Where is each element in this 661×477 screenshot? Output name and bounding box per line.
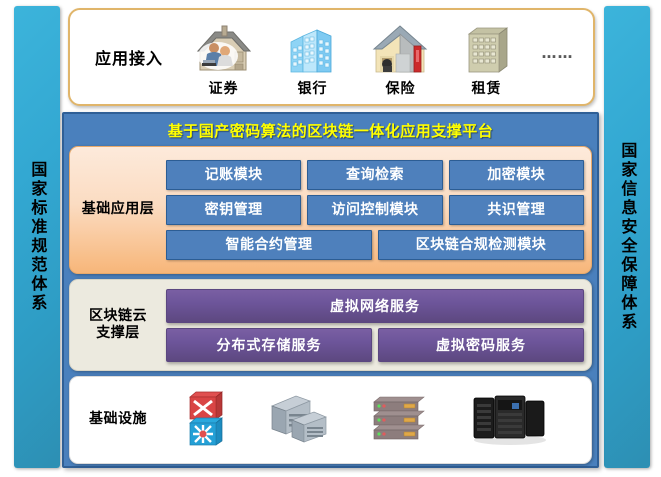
access-ellipsis: …… (542, 44, 574, 72)
cloud-service-row-1: 虚拟网络服务 (166, 289, 584, 323)
app-module-row-2: 密钥管理 访问控制模块 共识管理 (166, 195, 584, 225)
infrastructure-layer-label: 基础设施 (70, 411, 166, 429)
service-virtual-cryptography[interactable]: 虚拟密码服务 (378, 328, 584, 362)
access-item-bank[interactable]: 银行 (283, 14, 343, 102)
infrastructure-layer: 基础设施 (69, 376, 592, 464)
blockchain-cloud-support-services: 虚拟网络服务 分布式存储服务 虚拟密码服务 (166, 284, 591, 367)
cloud-label-line-1: 区块链云 (70, 308, 166, 326)
sidebar-left-label: 国家标准规范体系 (29, 161, 46, 313)
cloud-label-line-2: 支撑层 (70, 325, 166, 343)
blockchain-cloud-support-layer-label: 区块链云 支撑层 (70, 308, 166, 343)
sidebar-national-standards: 国家标准规范体系 (14, 6, 60, 468)
basic-application-layer-label: 基础应用层 (70, 201, 166, 219)
bank-building-icon (283, 18, 343, 76)
access-caption-leasing: 租赁 (472, 78, 502, 98)
access-item-insurance[interactable]: 保险 (370, 14, 432, 102)
leasing-building-icon (459, 18, 515, 76)
module-smart-contract-management[interactable]: 智能合约管理 (166, 230, 372, 260)
app-module-row-3: 智能合约管理 区块链合规检测模块 (166, 230, 584, 260)
module-key-management[interactable]: 密钥管理 (166, 195, 301, 225)
basic-application-layer: 基础应用层 记账模块 查询检索 加密模块 密钥管理 访问控制模块 共识管理 智能… (69, 146, 592, 274)
module-blockchain-compliance-detection[interactable]: 区块链合规检测模块 (378, 230, 584, 260)
access-caption-bank: 银行 (298, 78, 328, 98)
platform-frame: 基于国产密码算法的区块链一体化应用支撑平台 基础应用层 记账模块 查询检索 加密… (62, 112, 599, 468)
blockchain-cloud-support-layer: 区块链云 支撑层 虚拟网络服务 分布式存储服务 虚拟密码服务 (69, 279, 592, 371)
application-access-label: 应用接入 (80, 45, 178, 69)
insurance-house-icon (370, 18, 432, 76)
infrastructure-icon-row (166, 387, 584, 453)
rack-servers-icon (368, 390, 428, 450)
application-access-panel: 应用接入 (68, 8, 595, 106)
access-caption-insurance: 保险 (386, 78, 416, 98)
platform-title: 基于国产密码算法的区块链一体化应用支撑平台 (69, 119, 592, 141)
securities-house-icon (192, 18, 256, 76)
server-cabinet-icon (468, 390, 548, 450)
app-module-row-1: 记账模块 查询检索 加密模块 (166, 160, 584, 190)
cloud-service-row-2: 分布式存储服务 虚拟密码服务 (166, 328, 584, 362)
service-distributed-storage[interactable]: 分布式存储服务 (166, 328, 372, 362)
module-consensus-management[interactable]: 共识管理 (449, 195, 584, 225)
application-access-items: 证券 (178, 10, 593, 104)
network-switch-icon (186, 387, 226, 453)
infrastructure-icons (166, 382, 591, 458)
access-item-leasing[interactable]: 租赁 (459, 14, 515, 102)
module-encryption[interactable]: 加密模块 (449, 160, 584, 190)
service-virtual-network[interactable]: 虚拟网络服务 (166, 289, 584, 323)
access-item-securities[interactable]: 证券 (192, 14, 256, 102)
access-caption-securities: 证券 (209, 78, 239, 98)
module-access-control[interactable]: 访问控制模块 (307, 195, 442, 225)
module-accounting[interactable]: 记账模块 (166, 160, 301, 190)
sidebar-right-label: 国家信息安全保障体系 (619, 142, 636, 332)
sidebar-national-info-security: 国家信息安全保障体系 (604, 6, 650, 468)
module-query-search[interactable]: 查询检索 (307, 160, 442, 190)
basic-application-layer-modules: 记账模块 查询检索 加密模块 密钥管理 访问控制模块 共识管理 智能合约管理 区… (166, 155, 591, 265)
architecture-diagram: 国家标准规范体系 国家信息安全保障体系 应用接入 (0, 0, 661, 477)
server-stack-icon (266, 392, 328, 448)
